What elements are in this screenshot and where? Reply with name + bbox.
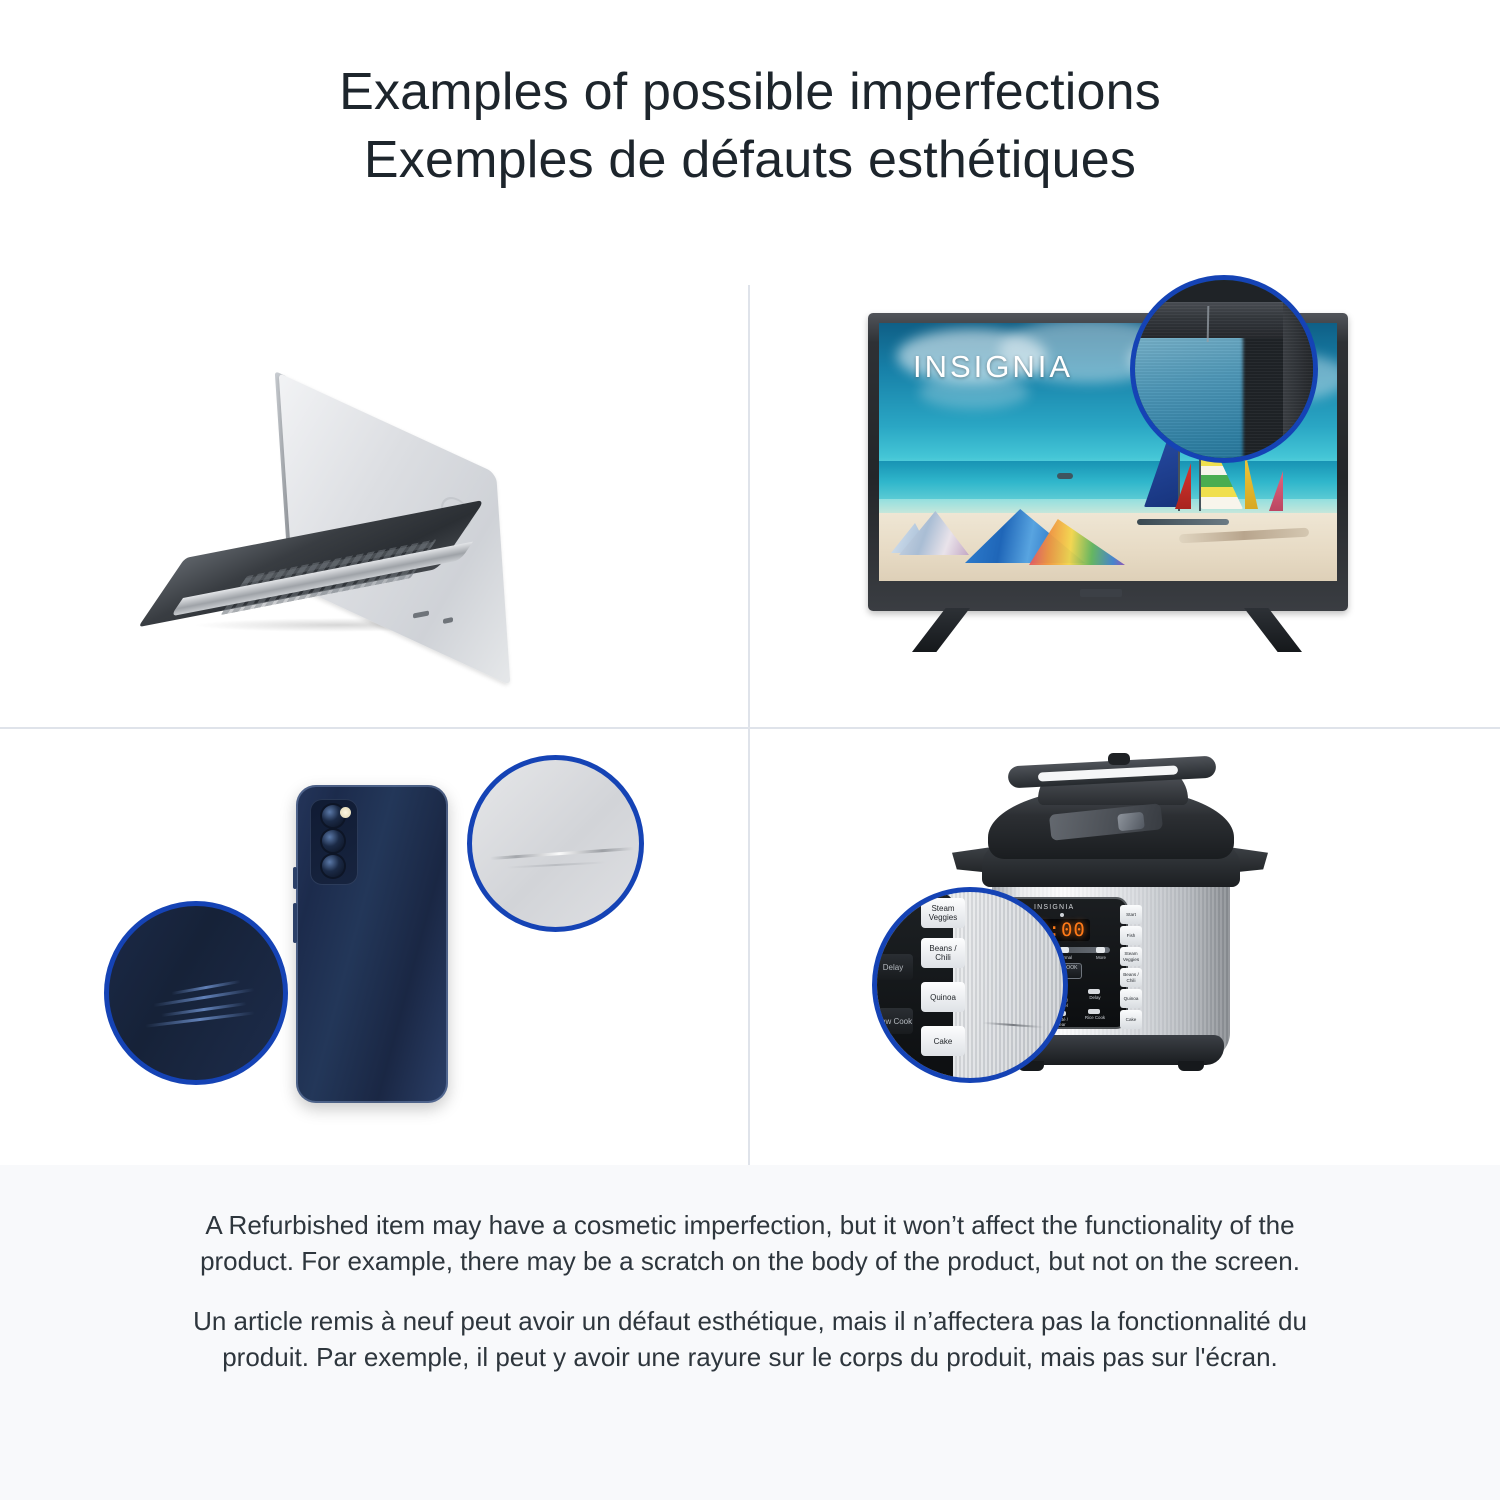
cooker-button-label-rice-cook: Rice Cook (1084, 1015, 1106, 1020)
cooker-slider-tick (1096, 947, 1105, 953)
cooker-button-quinoa[interactable]: Quinoa (1120, 989, 1142, 1008)
cell-television: INSIGNIA (750, 285, 1498, 727)
cell-pressure-cooker: INSIGNIA 8:00 Less Normal More SLOW COOK (750, 729, 1498, 1171)
cooker-button-start[interactable]: Start (1120, 905, 1142, 924)
page-title: Examples of possible imperfections Exemp… (0, 58, 1500, 194)
cooker-zoom-button-cake[interactable]: Cake (921, 1026, 965, 1056)
cell-laptop (0, 285, 748, 727)
camera-flash-icon (340, 807, 351, 818)
disclaimer-english: A Refurbished item may have a cosmetic i… (180, 1207, 1320, 1279)
catamaran-hull-shape (1137, 519, 1229, 525)
laptop-scratch-mark (490, 847, 634, 860)
disclaimer-french: Un article remis à neuf peut avoir un dé… (180, 1303, 1320, 1375)
phone-volume-button (293, 867, 297, 889)
magnifier-circle-smartphone (104, 901, 288, 1085)
tv-stand-right (1244, 608, 1302, 652)
disclaimer-text-block: A Refurbished item may have a cosmetic i… (180, 1207, 1320, 1375)
cooker-zoom-button-quinoa[interactable]: Quinoa (921, 982, 965, 1012)
television-illustration: INSIGNIA (750, 285, 1498, 727)
cooker-zoom-button-slow-cook[interactable]: Slow Cook (873, 1008, 913, 1034)
camera-lens-icon (322, 830, 344, 852)
cell-smartphone (0, 729, 748, 1171)
smartphone-figure (296, 785, 456, 1115)
cooker-slider-label-more: More (1090, 955, 1112, 960)
cooker-lid-badge (1117, 812, 1145, 832)
phone-power-button (293, 903, 297, 943)
laptop-scratch-mark-secondary (506, 861, 606, 868)
distant-boat-shape (1057, 473, 1073, 479)
cooker-zoom-button-beans-chili[interactable]: Beans / Chili (921, 938, 965, 968)
cooker-zoom-button-delay[interactable]: Delay (873, 954, 913, 980)
cooker-function-button[interactable] (1088, 989, 1100, 994)
title-french: Exemples de défauts esthétiques (0, 126, 1500, 194)
magnifier-circle-pressure-cooker: Steam Veggies Beans / Chili Quinoa Cake … (872, 887, 1068, 1083)
tv-bezel-texture (1130, 302, 1318, 463)
laptop-illustration (0, 285, 748, 727)
laptop-figure (185, 380, 515, 640)
cooker-button-beans-chili[interactable]: Beans / Chili (1120, 968, 1142, 987)
camera-module (310, 799, 358, 885)
smartphone-illustration (0, 729, 748, 1171)
magnifier-circle-laptop (467, 755, 644, 932)
cooker-button-fish[interactable]: Fish (1120, 926, 1142, 945)
cooker-button-steam-veggies[interactable]: Steam Veggies (1120, 947, 1142, 966)
tv-stand-left (912, 608, 970, 652)
tv-front-badge (1080, 589, 1122, 597)
product-examples-grid: INSIGNIA (0, 285, 1500, 1165)
pressure-cooker-illustration: INSIGNIA 8:00 Less Normal More SLOW COOK (750, 729, 1498, 1171)
tv-brand-logo: INSIGNIA (913, 349, 1073, 385)
cooker-foot (1178, 1061, 1204, 1071)
magnifier-circle-television (1130, 275, 1318, 463)
disclaimer-panel: A Refurbished item may have a cosmetic i… (0, 1165, 1500, 1500)
title-english: Examples of possible imperfections (0, 58, 1500, 126)
cooker-pressure-valve-icon (1108, 753, 1130, 765)
cooker-right-button-column: Start Fish Steam Veggies Beans / Chili Q… (1120, 905, 1142, 1031)
refurbished-imperfections-infographic: Examples of possible imperfections Exemp… (0, 0, 1500, 1500)
camera-lens-icon (322, 855, 344, 877)
cooker-function-button[interactable] (1088, 1009, 1100, 1014)
cooker-button-cake[interactable]: Cake (1120, 1010, 1142, 1029)
cooker-zoom-button-steam-veggies[interactable]: Steam Veggies (921, 898, 965, 928)
cooker-button-label-delay: Delay (1084, 995, 1106, 1000)
